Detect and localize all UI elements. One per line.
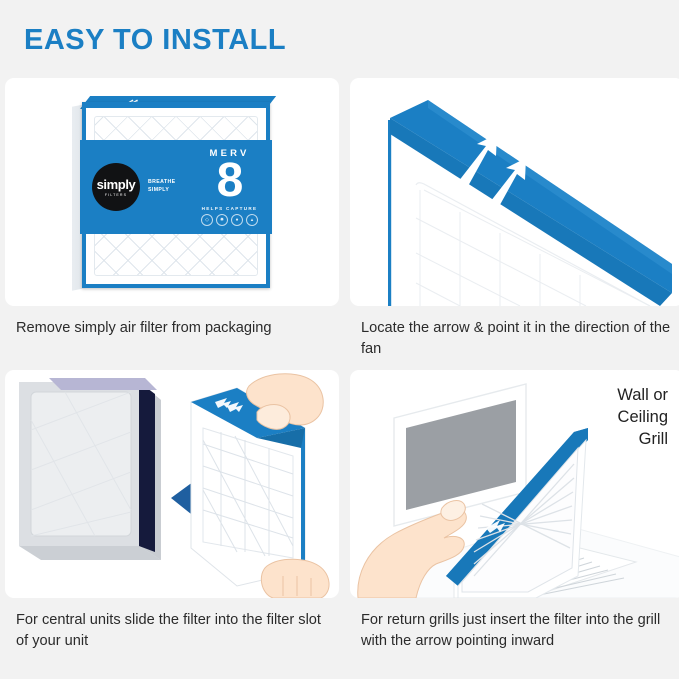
merv-number: 8 xyxy=(201,159,258,203)
mold-icon: ▴ xyxy=(246,214,258,226)
box-front-face: simply FILTERS BREATHE SIMPLY MERV 8 xyxy=(82,102,270,288)
grill-label: Wall or Ceiling Grill xyxy=(617,384,668,450)
grill-label-line-1: Wall or xyxy=(617,384,668,406)
helps-capture-label: HELPS CAPTURE xyxy=(201,206,258,211)
central-unit-svg xyxy=(5,370,339,598)
filter-box-illustration: ▸▸ simply FILTERS xyxy=(72,96,272,288)
tagline-line-2: SIMPLY xyxy=(148,187,176,195)
page-title: EASY TO INSTALL xyxy=(24,24,286,57)
step-2-caption: Locate the arrow & point it in the direc… xyxy=(350,306,679,364)
box-label-band: simply FILTERS BREATHE SIMPLY MERV 8 xyxy=(80,140,272,234)
step-card-4: Wall or Ceiling Grill For return grills … xyxy=(350,370,679,656)
brand-logo: simply FILTERS xyxy=(92,163,140,211)
hvac-unit xyxy=(19,378,161,560)
frame-left-edge xyxy=(388,120,391,306)
step-1-artwork: ▸▸ simply FILTERS xyxy=(5,78,339,306)
unit-top-surface xyxy=(49,378,157,390)
step-2-artwork xyxy=(350,78,679,306)
filter-edge-illustration xyxy=(350,78,679,306)
brand-tagline: BREATHE SIMPLY xyxy=(148,179,176,195)
grill-illustration: Wall or Ceiling Grill xyxy=(350,370,679,598)
hand-bottom xyxy=(261,559,329,598)
filter-edge-svg xyxy=(350,78,679,306)
filter-slot xyxy=(139,382,155,552)
helps-capture-icons: ◇ ✸ ● ▴ xyxy=(201,214,258,226)
step-4-caption: For return grills just insert the filter… xyxy=(350,598,679,656)
step-card-2: Locate the arrow & point it in the direc… xyxy=(350,78,679,364)
step-card-3: For central units slide the filter into … xyxy=(5,370,339,656)
pollen-icon: ✸ xyxy=(216,214,228,226)
step-card-1: ▸▸ simply FILTERS xyxy=(5,78,339,364)
merv-rating-block: MERV 8 HELPS CAPTURE ◇ ✸ ● ▴ xyxy=(201,148,258,225)
steps-grid: ▸▸ simply FILTERS xyxy=(0,78,679,656)
lint-icon: ● xyxy=(231,214,243,226)
grill-label-line-3: Grill xyxy=(617,428,668,450)
tagline-line-1: BREATHE xyxy=(148,179,176,187)
hand-top xyxy=(247,374,324,430)
filter-box: ▸▸ simply FILTERS xyxy=(72,96,272,288)
brand-subtitle: FILTERS xyxy=(105,193,127,197)
step-4-artwork: Wall or Ceiling Grill xyxy=(350,370,679,598)
install-instructions-page: EASY TO INSTALL ▸▸ xyxy=(0,0,679,679)
grill-label-line-2: Ceiling xyxy=(617,406,668,428)
dust-icon: ◇ xyxy=(201,214,213,226)
step-3-artwork xyxy=(5,370,339,598)
brand-name: simply xyxy=(97,178,136,191)
step-3-caption: For central units slide the filter into … xyxy=(5,598,339,656)
step-1-caption: Remove simply air filter from packaging xyxy=(5,306,339,364)
central-unit-illustration xyxy=(5,370,339,598)
